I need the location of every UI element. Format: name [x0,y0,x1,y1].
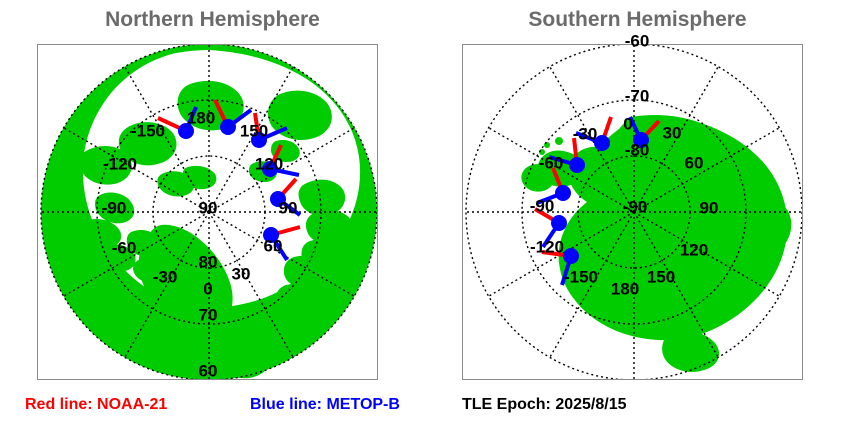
nh-lat-ring-label: 80 [199,254,218,271]
nh-label: -120 [103,156,137,173]
sh-label: 30 [663,125,682,142]
sh-label: 180 [611,281,639,298]
nh-lat-ring-label: 70 [199,307,218,324]
sh-lat-ring-label: -80 [625,142,650,159]
sh-label: -30 [573,126,598,143]
sh-label: -60 [539,155,564,172]
sh-label: -90 [530,198,555,215]
sh-label: 60 [685,155,704,172]
sh-label: 90 [700,200,719,217]
sh-label: 120 [680,242,708,259]
nh-label: -90 [102,200,127,217]
sh-pole-label: -90 [623,199,648,216]
nh-label: 120 [255,156,283,173]
southern-hemisphere-title: Southern Hemisphere [425,8,850,32]
nh-label: -150 [131,123,165,140]
nh-label: -60 [112,240,137,257]
nh-label: 90 [279,200,298,217]
legend-tle-epoch: TLE Epoch: 2025/8/15 [462,396,627,414]
nh-label: 180 [187,110,215,127]
sh-lat-ring-label: -70 [625,88,650,105]
sh-label: -150 [564,269,598,286]
sh-label: 150 [647,269,675,286]
nh-pole-label: 90 [199,200,218,217]
sh-label: 0 [623,116,632,133]
nh-label: 30 [232,266,251,283]
legend-noaa21: Red line: NOAA-21 [25,396,167,414]
legend-metopb: Blue line: METOP-B [250,396,400,414]
nh-label: 0 [203,281,212,298]
nh-lat-ring-label: 60 [199,363,218,380]
sh-lat-ring-label: -60 [625,33,650,50]
nh-label: 150 [240,123,268,140]
nh-label: 60 [264,238,283,255]
northern-hemisphere-title: Northern Hemisphere [0,8,425,32]
nh-label: -30 [153,269,178,286]
northern-hemisphere-panel: Northern Hemisphere [0,0,425,425]
sh-label: -120 [530,239,564,256]
